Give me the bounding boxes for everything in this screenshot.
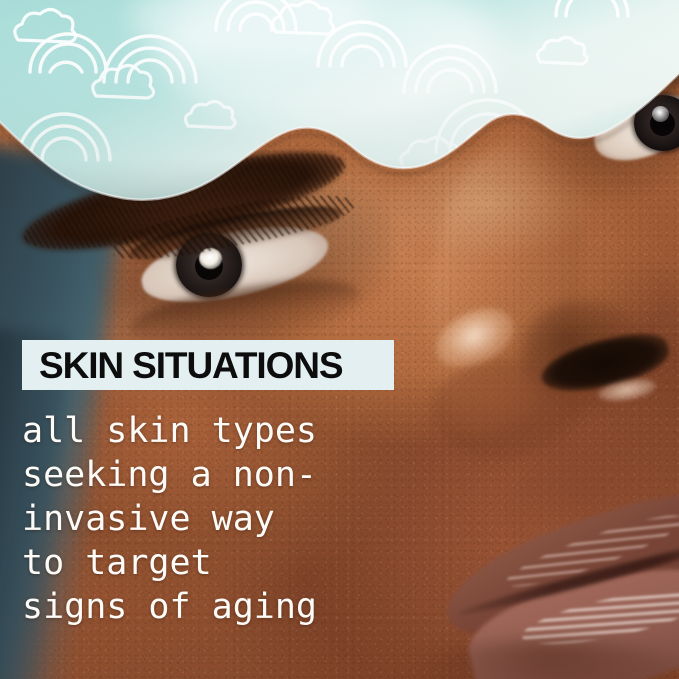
body-line: to target (22, 541, 442, 585)
body-line: signs of aging (22, 585, 442, 629)
eye-right-catchlight (652, 106, 669, 122)
headline-banner: SKIN SITUATIONS (22, 340, 394, 390)
body-copy: all skin types seeking a non- invasive w… (22, 409, 442, 629)
body-line: all skin types (22, 409, 442, 453)
body-line: invasive way (22, 497, 442, 541)
body-line: seeking a non- (22, 453, 442, 497)
skincare-ad-card: SKIN SITUATIONS all skin types seeking a… (0, 0, 679, 679)
headline-text: SKIN SITUATIONS (39, 347, 343, 384)
